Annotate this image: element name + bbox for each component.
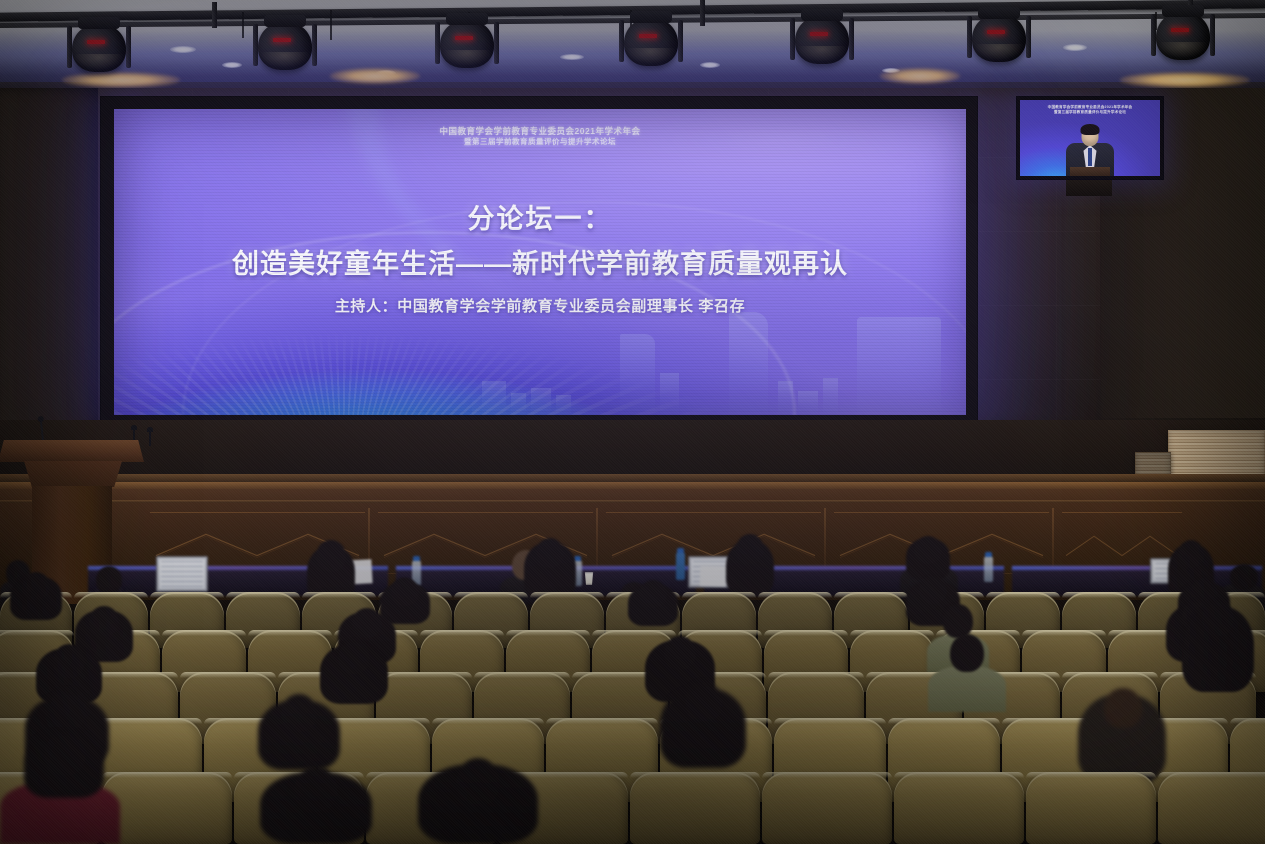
screen-surface: 中国教育学会学前教育专业委员会2021年学术年会 暨第三届学前教育质量评价与提升… — [114, 109, 966, 415]
person-head — [281, 694, 317, 732]
person-head — [685, 682, 723, 722]
person-head — [456, 758, 500, 806]
person-head — [338, 640, 370, 674]
cityscape-building — [482, 381, 507, 415]
person-head — [316, 540, 346, 572]
person-head — [1230, 564, 1258, 590]
stage-spotlight — [440, 20, 494, 68]
speaker-tie — [1088, 148, 1092, 166]
spotlight-led-indicator — [987, 30, 1005, 34]
stage-rear-band — [0, 420, 1265, 478]
bottle-cap — [413, 556, 420, 561]
cityscape-building — [660, 373, 680, 415]
warm-wash-light — [1120, 72, 1250, 88]
audience-member — [628, 580, 678, 626]
spotlight-lens — [1158, 42, 1208, 58]
spotlight-led-indicator — [273, 38, 291, 42]
stage-top-edge — [0, 474, 1265, 482]
audience-member — [258, 694, 340, 770]
stage-spotlight — [1156, 12, 1210, 60]
spotlight-yoke — [253, 24, 258, 66]
audience-member — [418, 758, 538, 844]
bottle-cap — [985, 552, 992, 557]
slide-header-line2: 暨第三届学前教育质量评价与提升学术论坛 — [114, 137, 966, 148]
slide-header: 中国教育学会学前教育专业委员会2021年学术年会 暨第三届学前教育质量评价与提升… — [114, 125, 966, 148]
spotlight-yoke — [494, 22, 499, 64]
person-head — [736, 534, 764, 564]
stage-spotlight — [795, 16, 849, 64]
spotlight-yoke — [67, 26, 72, 68]
cityscape-building — [531, 388, 551, 415]
spotlight-lens — [74, 54, 124, 70]
auditorium-seat[interactable] — [630, 772, 760, 844]
spotlight-lens — [260, 52, 310, 68]
spotlight-lens — [974, 44, 1024, 60]
cityscape-building — [798, 391, 818, 415]
speaker-podium — [1070, 167, 1110, 176]
side-monitor-screen: 中国教育学会学前教育专业委员会2021年学术年会 暨第三届学前教育质量评价与提升… — [1020, 100, 1160, 176]
podium-top-surface — [0, 440, 144, 462]
bottle-cap — [677, 548, 684, 553]
cityscape-building — [857, 317, 941, 415]
audience-member — [260, 766, 372, 844]
spotlight-yoke — [967, 16, 972, 58]
person-head — [943, 604, 973, 638]
person-head — [22, 572, 50, 600]
spotlight-yoke — [1026, 16, 1031, 58]
audience-member — [10, 572, 62, 620]
side-monitor-speaker — [1062, 126, 1118, 176]
spotlight-yoke — [312, 24, 317, 66]
spotlight-led-indicator — [455, 36, 473, 40]
cityscape-building — [823, 378, 838, 415]
water-bottle — [984, 556, 993, 582]
auditorium-seat[interactable] — [1158, 772, 1265, 844]
slide-header-line1: 中国教育学会学前教育专业委员会2021年学术年会 — [114, 125, 966, 137]
spotlight-led-indicator — [87, 40, 105, 44]
spotlight-yoke — [790, 18, 795, 60]
person-head — [536, 538, 564, 568]
person-head — [914, 536, 942, 564]
spotlight-led-indicator — [1171, 28, 1189, 32]
side-monitor-header: 中国教育学会学前教育专业委员会2021年学术年会 暨第三届学前教育质量评价与提升… — [1020, 105, 1160, 116]
person-head — [1202, 600, 1234, 636]
person-head — [89, 606, 119, 636]
person-head — [352, 608, 382, 638]
cityscape-building — [511, 393, 526, 415]
spotlight-lens — [797, 46, 847, 62]
audience-member — [928, 634, 1006, 712]
laptop-screen-content — [161, 561, 203, 587]
stage-rail-top — [0, 482, 1265, 489]
person-head — [53, 644, 85, 678]
spotlight-led-indicator — [810, 32, 828, 36]
stage-spotlight — [972, 14, 1026, 62]
ceiling-downlight — [170, 46, 196, 53]
projection-screen: 中国教育学会学前教育专业委员会2021年学术年会 暨第三届学前教育质量评价与提升… — [100, 96, 978, 426]
stage-rail-secondary — [0, 500, 1265, 503]
spotlight-yoke — [1210, 14, 1215, 56]
truss-leg — [212, 2, 217, 28]
spotlight-led-indicator — [639, 34, 657, 38]
hanging-cable — [242, 12, 244, 38]
stage-spotlight — [624, 18, 678, 66]
truss-leg — [700, 0, 705, 26]
slide-title-line2: 创造美好童年生活——新时代学前教育质量观再认 — [114, 242, 966, 281]
cityscape-building — [778, 381, 793, 415]
auditorium-seat[interactable] — [762, 772, 892, 844]
person-head — [44, 732, 86, 776]
cityscape-building — [729, 312, 769, 415]
person-head — [294, 766, 338, 812]
spotlight-yoke — [849, 18, 854, 60]
spotlight-yoke — [619, 20, 624, 62]
auditorium-seat[interactable] — [1026, 772, 1156, 844]
cityscape-building — [556, 395, 571, 415]
ceiling-downlight — [700, 62, 720, 68]
cityscape-building — [620, 334, 655, 415]
stage-spotlight — [72, 24, 126, 72]
spotlight-lens — [626, 48, 676, 64]
person-head — [919, 576, 947, 604]
ceiling-downlight — [1063, 44, 1087, 51]
person-head — [664, 636, 696, 670]
warm-wash-light — [62, 72, 180, 88]
monitor-mount-bracket — [1066, 180, 1112, 196]
stage-microphone — [149, 430, 151, 446]
ceiling-downlight — [222, 62, 242, 68]
auditorium-scene: 中国教育学会学前教育专业委员会2021年学术年会 暨第三届学前教育质量评价与提升… — [0, 0, 1265, 844]
warm-wash-light — [880, 68, 960, 84]
warm-wash-light — [330, 68, 420, 84]
person-head — [950, 634, 984, 672]
spotlight-yoke — [1151, 14, 1156, 56]
slide-title-block: 分论坛一： 创造美好童年生活——新时代学前教育质量观再认 — [114, 197, 966, 281]
person-head — [96, 566, 122, 594]
speaker-hair — [1081, 124, 1100, 135]
document-paper — [700, 566, 727, 587]
slide-host-line: 主持人：中国教育学会学前教育专业委员会副理事长 李召存 — [114, 295, 966, 316]
spotlight-lens — [442, 50, 492, 66]
stage-spotlight — [258, 22, 312, 70]
ceiling-downlight — [560, 54, 584, 60]
audience-member — [1182, 600, 1254, 692]
side-display-monitor: 中国教育学会学前教育专业委员会2021年学术年会 暨第三届学前教育质量评价与提升… — [1016, 96, 1164, 180]
audience-member — [726, 534, 774, 596]
hanging-cable — [330, 10, 332, 40]
podium-neck — [24, 461, 122, 487]
person-head — [1104, 688, 1142, 728]
auditorium-seat[interactable] — [102, 772, 232, 844]
audience-member — [1078, 688, 1166, 784]
spotlight-yoke — [126, 26, 131, 68]
person-shoulders — [928, 666, 1006, 712]
side-monitor-header-line2: 暨第三届学前教育质量评价与提升学术论坛 — [1020, 110, 1160, 115]
person-head — [1178, 540, 1204, 568]
spotlight-yoke — [435, 22, 440, 64]
spotlight-yoke — [678, 20, 683, 62]
slide-title-line1: 分论坛一： — [114, 197, 966, 236]
water-bottle — [676, 552, 685, 580]
person-head — [49, 690, 87, 730]
person-head — [391, 578, 419, 606]
person-head — [639, 580, 667, 608]
laptop-computer — [156, 556, 208, 592]
audience-member — [0, 732, 120, 844]
auditorium-seat[interactable] — [894, 772, 1024, 844]
audience-member — [660, 682, 746, 768]
